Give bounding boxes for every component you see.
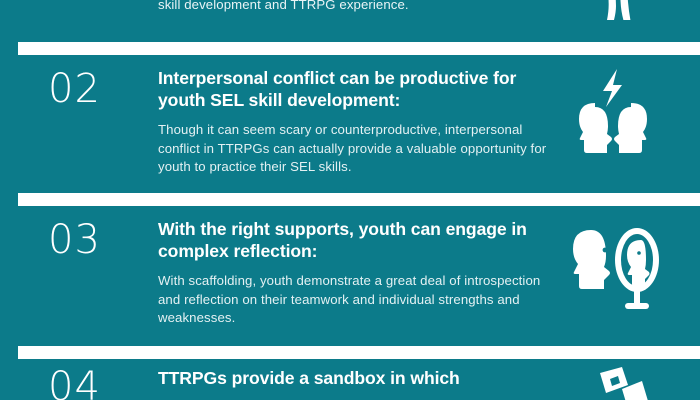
item-headline: Interpersonal conflict can be productive… xyxy=(158,67,550,111)
item-body: With scaffolding, youth demonstrate a gr… xyxy=(158,272,550,328)
two-heads-conflict-lightning-icon xyxy=(565,67,661,167)
item-number: 04 xyxy=(48,367,148,400)
item-text-block: TTRPGs provide a sandbox in which xyxy=(158,367,550,399)
list-item: 03 With the right supports, youth can en… xyxy=(0,206,700,346)
item-number: 02 xyxy=(48,69,148,109)
item-body: Though it can seem scary or counterprodu… xyxy=(158,121,550,177)
list-item: 02 Interpersonal conflict can be product… xyxy=(0,55,700,193)
section-divider xyxy=(18,193,700,206)
item-number: 03 xyxy=(48,220,148,260)
clipped-body-text: skill development and TTRPG experience. xyxy=(158,0,548,13)
clipped-previous-item: skill development and TTRPG experience. xyxy=(0,0,700,42)
polyhedral-dice-icon xyxy=(592,367,652,400)
infographic-panel: skill development and TTRPG experience. … xyxy=(0,0,700,400)
item-headline: TTRPGs provide a sandbox in which xyxy=(158,367,550,389)
item-text-block: Interpersonal conflict can be productive… xyxy=(158,67,550,177)
section-divider xyxy=(18,42,700,55)
item-text-block: With the right supports, youth can engag… xyxy=(158,218,550,328)
legs-standing-figure-icon xyxy=(588,0,648,30)
list-item: 04 TTRPGs provide a sandbox in which xyxy=(0,359,700,400)
item-headline: With the right supports, youth can engag… xyxy=(158,218,550,262)
section-divider xyxy=(18,346,700,359)
head-mirror-reflection-icon xyxy=(565,218,661,318)
